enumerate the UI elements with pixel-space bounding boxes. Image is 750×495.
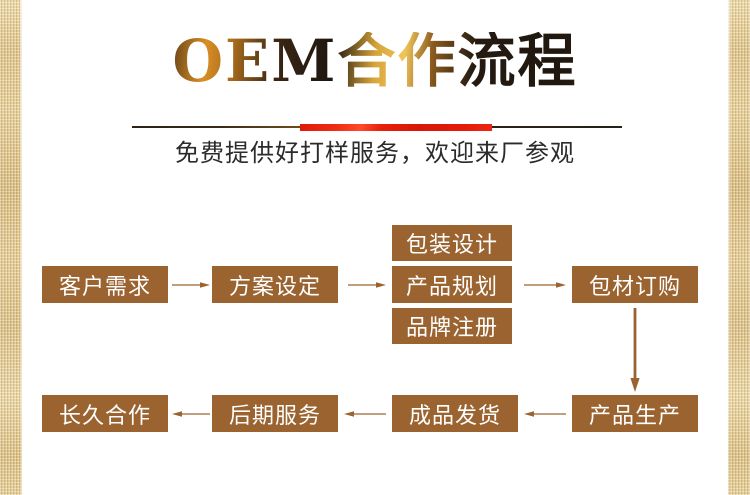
arrow-right-icon — [524, 275, 566, 295]
arrow-right-icon — [348, 275, 386, 295]
arrow-left-icon — [172, 404, 210, 424]
flow-node-chanpin: 产品规划 — [392, 266, 512, 303]
flow-node-baozhuang: 包装设计 — [392, 225, 512, 261]
arrow-down-icon — [624, 308, 646, 392]
flow-node-kehu: 客户需求 — [42, 266, 168, 303]
arrow-left-icon — [524, 404, 566, 424]
flow-node-fahuo: 成品发货 — [392, 395, 518, 432]
arrow-right-icon — [172, 275, 210, 295]
flow-node-shengchan: 产品生产 — [572, 395, 698, 432]
flow-node-baocai: 包材订购 — [572, 266, 698, 303]
oem-process-banner: OEM合作流程 免费提供好打样服务，欢迎来厂参观 客户需求 方案设定 包装设计 … — [0, 0, 750, 495]
flow-node-houqi: 后期服务 — [212, 395, 338, 432]
flow-node-pinpai: 品牌注册 — [392, 308, 512, 344]
arrow-left-icon — [344, 404, 386, 424]
flow-node-fangan: 方案设定 — [212, 266, 338, 303]
process-flow-diagram: 客户需求 方案设定 包装设计 产品规划 品牌注册 包材订购 产品生产 成品发货 … — [0, 0, 750, 495]
flow-node-changjiu: 长久合作 — [42, 395, 168, 432]
